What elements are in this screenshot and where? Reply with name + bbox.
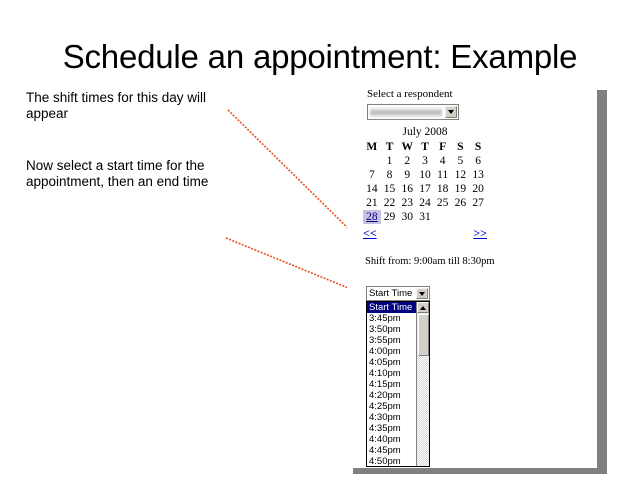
calendar-day[interactable]: 1 (381, 154, 399, 168)
calendar-week-row: 28 29 30 31 (363, 210, 487, 224)
calendar-day[interactable]: 25 (434, 196, 452, 210)
list-item[interactable]: 4:00pm (367, 346, 416, 357)
calendar-week-row: 14 15 16 17 18 19 20 (363, 182, 487, 196)
calendar-day[interactable]: 3 (416, 154, 434, 168)
calendar-day (363, 154, 381, 168)
list-item[interactable]: 4:30pm (367, 412, 416, 423)
calendar-month-label: July 2008 (363, 126, 487, 140)
list-item[interactable]: 4:50pm (367, 456, 416, 466)
calendar-day[interactable]: 14 (363, 182, 381, 196)
calendar-day[interactable]: 24 (416, 196, 434, 210)
calendar-day (452, 210, 470, 224)
calendar-day (434, 210, 452, 224)
list-item[interactable]: 4:10pm (367, 368, 416, 379)
calendar-weekday: M (363, 140, 381, 154)
calendar-day[interactable]: 19 (452, 182, 470, 196)
calendar-day[interactable]: 6 (469, 154, 487, 168)
calendar-grid: M T W T F S S 1 2 3 4 5 6 (363, 140, 487, 224)
list-item[interactable]: 4:40pm (367, 434, 416, 445)
calendar-day[interactable]: 9 (398, 168, 416, 182)
list-item[interactable]: 3:55pm (367, 335, 416, 346)
list-scrollbar[interactable] (416, 302, 429, 466)
calendar-day[interactable]: 8 (381, 168, 399, 182)
calendar-day[interactable]: 29 (381, 210, 399, 224)
list-item[interactable]: 4:15pm (367, 379, 416, 390)
calendar-day[interactable]: 2 (398, 154, 416, 168)
start-time-option-list[interactable]: Start Time 3:45pm 3:50pm 3:55pm 4:00pm 4… (366, 301, 430, 467)
calendar-weekday: F (434, 140, 452, 154)
calendar-weekday: T (381, 140, 399, 154)
calendar-day[interactable]: 23 (398, 196, 416, 210)
calendar-day[interactable]: 16 (398, 182, 416, 196)
list-item[interactable]: Start Time (367, 302, 416, 313)
calendar-day[interactable]: 26 (452, 196, 470, 210)
calendar-day[interactable]: 13 (469, 168, 487, 182)
calendar-day[interactable]: 20 (469, 182, 487, 196)
calendar-day[interactable]: 31 (416, 210, 434, 224)
respondent-label: Select a respondent (367, 88, 453, 100)
panel-shadow-right (597, 90, 607, 474)
calendar-weekday: S (452, 140, 470, 154)
calendar-day[interactable]: 18 (434, 182, 452, 196)
panel-shadow-bottom (353, 468, 607, 474)
calendar-day[interactable]: 12 (452, 168, 470, 182)
calendar-day[interactable]: 4 (434, 154, 452, 168)
calendar-day[interactable]: 21 (363, 196, 381, 210)
scrollbar-thumb[interactable] (418, 314, 429, 356)
chevron-down-icon[interactable] (416, 288, 428, 299)
calendar-week-row: 21 22 23 24 25 26 27 (363, 196, 487, 210)
chevron-down-icon[interactable] (445, 106, 457, 118)
calendar-day[interactable]: 10 (416, 168, 434, 182)
embedded-screenshot-panel: Select a respondent July 2008 M T W T F … (347, 84, 597, 468)
list-item[interactable]: 4:05pm (367, 357, 416, 368)
calendar-day (469, 210, 487, 224)
respondent-select[interactable] (367, 104, 459, 120)
calendar-day-selected[interactable]: 28 (363, 210, 381, 224)
list-item[interactable]: 4:35pm (367, 423, 416, 434)
list-item[interactable]: 4:45pm (367, 445, 416, 456)
page-title: Schedule an appointment: Example (0, 38, 640, 76)
calendar-week-row: 1 2 3 4 5 6 (363, 154, 487, 168)
calendar-day[interactable]: 30 (398, 210, 416, 224)
shift-hours-text: Shift from: 9:00am till 8:30pm (365, 256, 495, 267)
calendar-nav: << >> (363, 226, 487, 242)
calendar-weekday: T (416, 140, 434, 154)
start-time-options-container: Start Time 3:45pm 3:50pm 3:55pm 4:00pm 4… (367, 302, 416, 466)
calendar-day[interactable]: 11 (434, 168, 452, 182)
calendar-day[interactable]: 5 (452, 154, 470, 168)
calendar-day[interactable]: 27 (469, 196, 487, 210)
calendar-weekday: S (469, 140, 487, 154)
callout-text-select-start-time: Now select a start time for the appointm… (26, 158, 241, 190)
calendar-day[interactable]: 22 (381, 196, 399, 210)
list-item[interactable]: 4:20pm (367, 390, 416, 401)
calendar-weekday: W (398, 140, 416, 154)
calendar-prev-month-link[interactable]: << (363, 226, 377, 241)
start-time-combobox-value: Start Time (367, 288, 416, 299)
calendar-day[interactable]: 17 (416, 182, 434, 196)
calendar-next-month-link[interactable]: >> (473, 226, 487, 241)
calendar-day[interactable]: 15 (381, 182, 399, 196)
calendar-weekday-row: M T W T F S S (363, 140, 487, 154)
list-item[interactable]: 3:45pm (367, 313, 416, 324)
calendar-day[interactable]: 7 (363, 168, 381, 182)
respondent-value-blurred (370, 107, 442, 118)
triangle-up-icon[interactable] (417, 302, 429, 313)
list-item[interactable]: 4:25pm (367, 401, 416, 412)
calendar-week-row: 7 8 9 10 11 12 13 (363, 168, 487, 182)
callout-text-shift-times: The shift times for this day will appear (26, 90, 241, 122)
list-item[interactable]: 3:50pm (367, 324, 416, 335)
calendar-widget: July 2008 M T W T F S S 1 2 3 (363, 126, 487, 242)
start-time-combobox[interactable]: Start Time (366, 286, 430, 301)
